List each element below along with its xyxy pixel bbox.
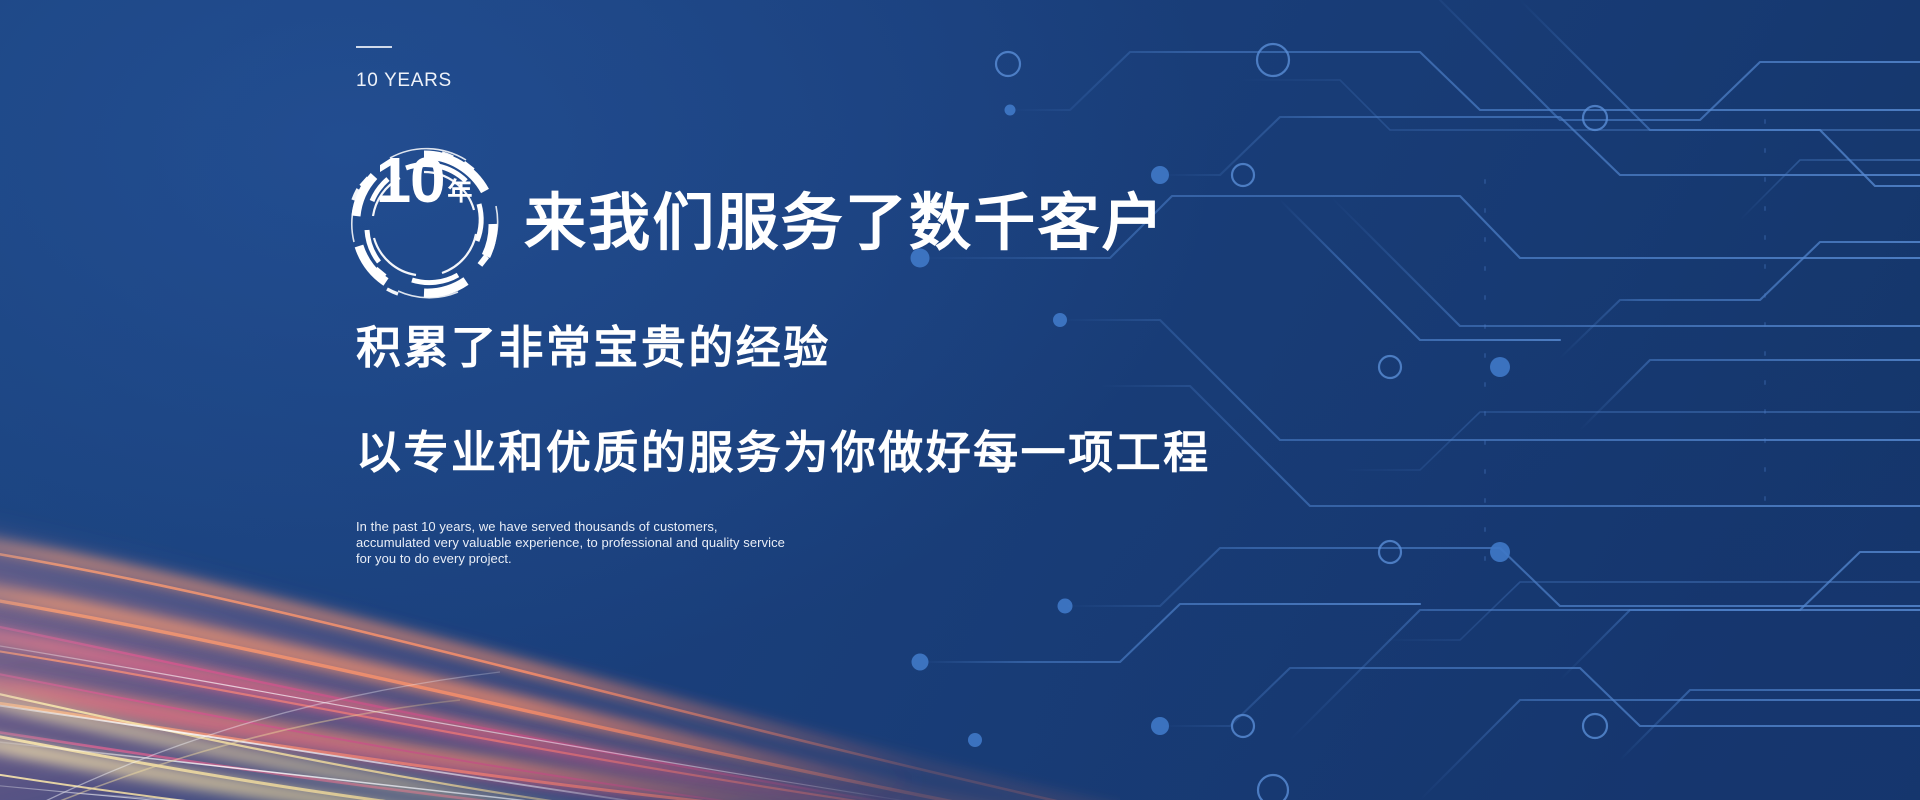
anniversary-badge: 10 年	[346, 146, 502, 302]
badge-label: 10 年	[346, 148, 502, 304]
banner-content: 10 YEARS	[356, 0, 1656, 800]
subheading-one: 积累了非常宝贵的经验	[356, 325, 831, 370]
hero-banner: 10 YEARS	[0, 0, 1920, 800]
headline-row: 10 年 来我们服务了数千客户	[346, 146, 1166, 302]
eyebrow-label: 10 YEARS	[356, 70, 452, 92]
english-description: In the past 10 years, we have served tho…	[356, 519, 788, 567]
badge-number: 10	[376, 148, 445, 212]
badge-unit: 年	[447, 180, 472, 205]
eyebrow-rule	[356, 46, 392, 48]
subheading-two: 以专业和优质的服务为你做好每一项工程	[356, 430, 1211, 475]
main-headline: 来我们服务了数千客户	[524, 193, 1166, 255]
